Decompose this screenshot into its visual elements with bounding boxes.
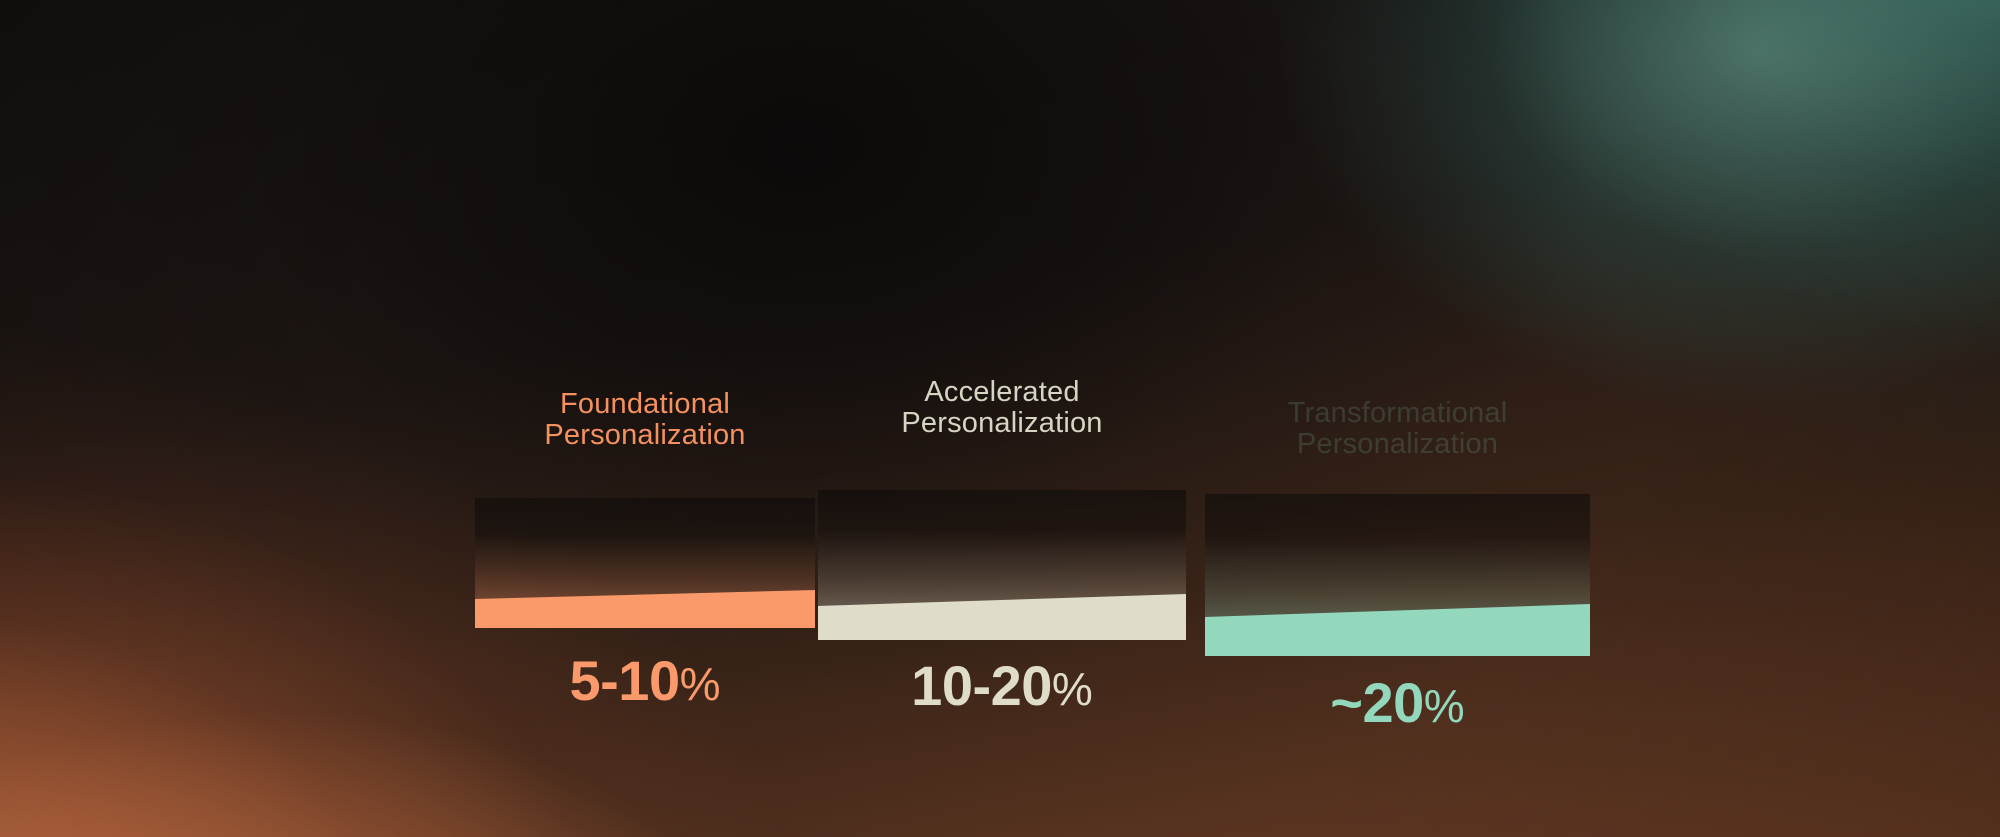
bar-wedge-transformational <box>1205 604 1590 656</box>
bar-backdrop-foundational <box>475 498 815 603</box>
bar-value-number: 5-10 <box>570 649 680 712</box>
bar-value-number: ~20 <box>1330 671 1424 734</box>
bar-category-label-foundational: FoundationalPersonalization <box>435 389 855 451</box>
bar-value-percent-sign: % <box>680 658 721 710</box>
bar-backdrop-accelerated <box>818 490 1186 608</box>
bar-value-label-foundational: 5-10% <box>570 648 721 713</box>
bar-category-label-transformational: TransformationalPersonalization <box>1188 398 1608 460</box>
bar-backdrop-transformational <box>1205 494 1590 622</box>
bar-backdrop-fill <box>1205 494 1590 622</box>
bar-wedge-accelerated <box>818 594 1186 640</box>
slide-canvas: FoundationalPersonalization 5-10% Accele… <box>0 0 2000 837</box>
bar-value-label-accelerated: 10-20% <box>911 653 1093 718</box>
bar-backdrop-fill <box>475 498 815 603</box>
bar-value-percent-sign: % <box>1052 663 1093 715</box>
bar-value-label-transformational: ~20% <box>1330 670 1464 735</box>
bar-category-label-accelerated: AcceleratedPersonalization <box>792 377 1212 439</box>
personalization-uplift-chart: FoundationalPersonalization 5-10% Accele… <box>0 0 2000 837</box>
bar-backdrop-fill <box>818 490 1186 608</box>
bar-wedge-foundational <box>475 590 815 628</box>
bar-value-number: 10-20 <box>911 654 1052 717</box>
bar-value-percent-sign: % <box>1424 680 1465 732</box>
